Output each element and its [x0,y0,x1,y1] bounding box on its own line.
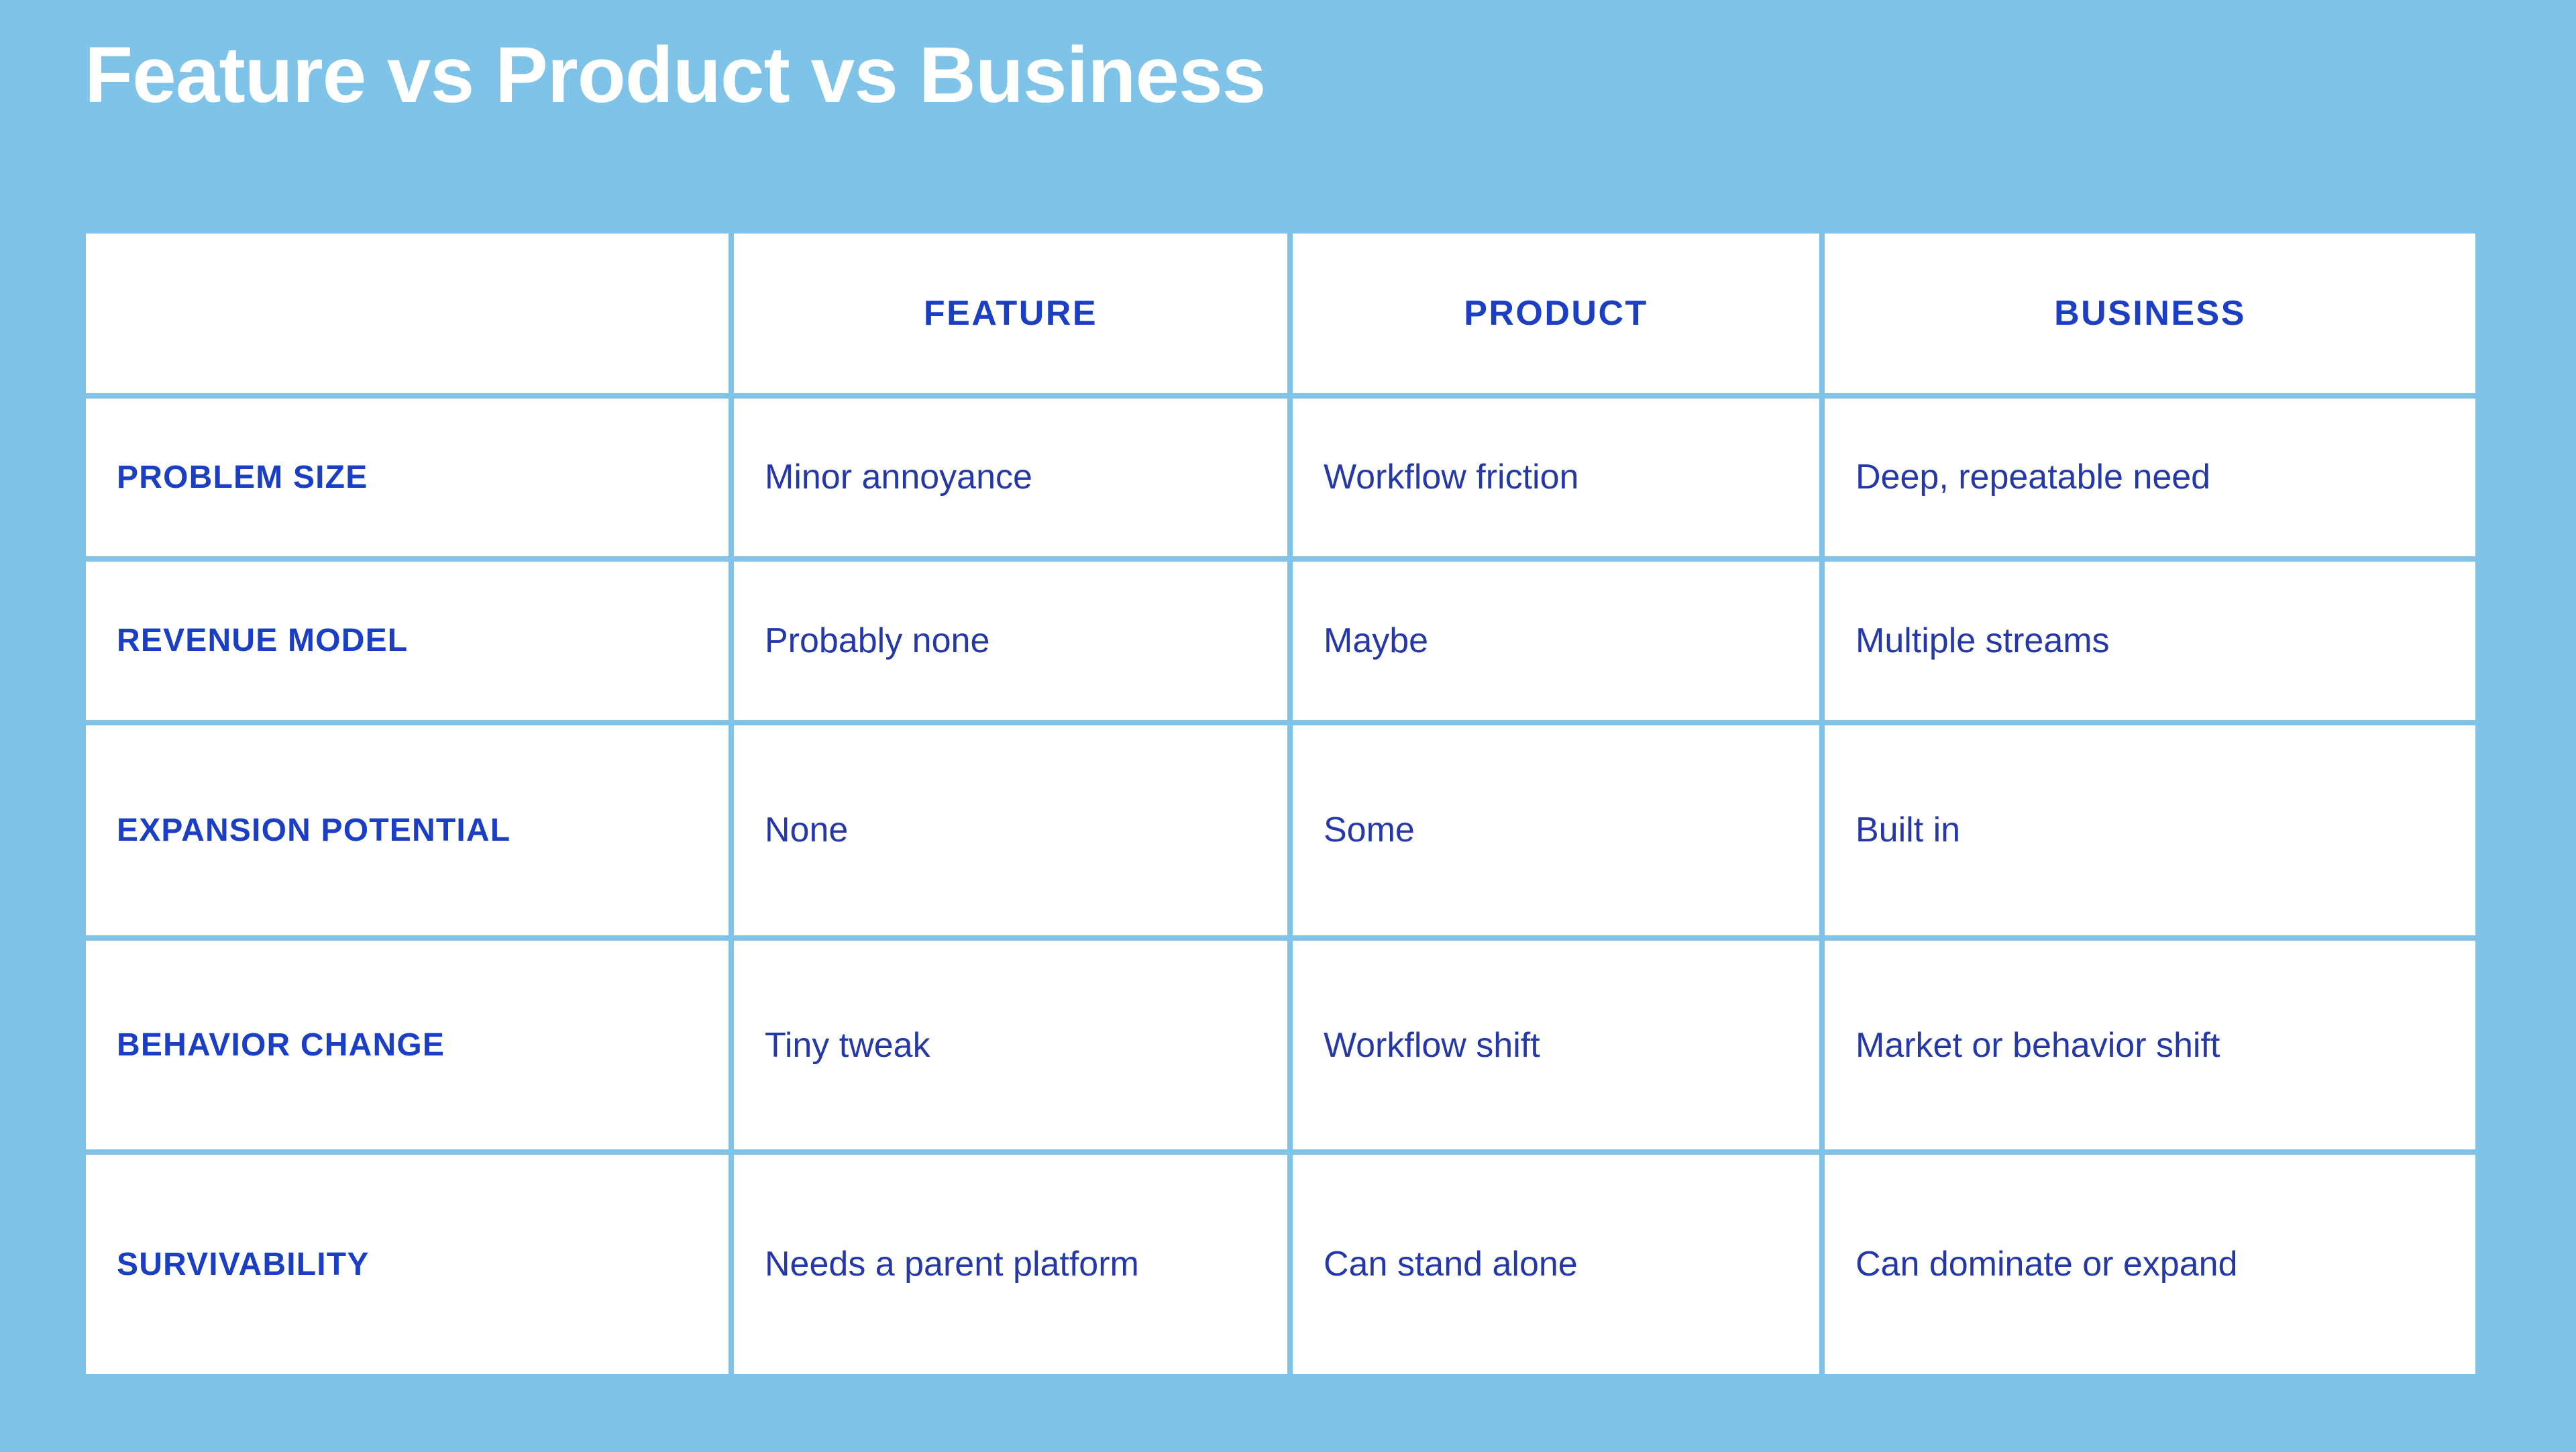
table-row: REVENUE MODEL Probably none Maybe Multip… [86,559,2475,722]
cell-survivability-feature: Needs a parent platform [731,1152,1290,1374]
cell-expansion-potential-business: Built in [1822,723,2475,939]
cell-survivability-product: Can stand alone [1290,1152,1822,1374]
cell-revenue-model-product: Maybe [1290,559,1822,722]
cell-behavior-change-product: Workflow shift [1290,938,1822,1152]
row-label-survivability: SURVIVABILITY [86,1152,731,1374]
cell-expansion-potential-feature: None [731,723,1290,939]
cell-revenue-model-business: Multiple streams [1822,559,2475,722]
page-title: Feature vs Product vs Business [85,31,1265,119]
row-label-revenue-model: REVENUE MODEL [86,559,731,722]
row-label-expansion-potential: EXPANSION POTENTIAL [86,723,731,939]
table-row: BEHAVIOR CHANGE Tiny tweak Workflow shif… [86,938,2475,1152]
comparison-table-container: FEATURE PRODUCT BUSINESS PROBLEM SIZE Mi… [86,234,2475,1374]
row-label-behavior-change: BEHAVIOR CHANGE [86,938,731,1152]
cell-problem-size-product: Workflow friction [1290,396,1822,559]
table-row: EXPANSION POTENTIAL None Some Built in [86,723,2475,939]
column-header-product: PRODUCT [1290,234,1822,396]
cell-revenue-model-feature: Probably none [731,559,1290,722]
cell-expansion-potential-product: Some [1290,723,1822,939]
row-label-problem-size: PROBLEM SIZE [86,396,731,559]
column-header-business: BUSINESS [1822,234,2475,396]
comparison-table: FEATURE PRODUCT BUSINESS PROBLEM SIZE Mi… [86,234,2475,1374]
table-header-row: FEATURE PRODUCT BUSINESS [86,234,2475,396]
column-header-feature: FEATURE [731,234,1290,396]
cell-problem-size-feature: Minor annoyance [731,396,1290,559]
table-row: SURVIVABILITY Needs a parent platform Ca… [86,1152,2475,1374]
cell-behavior-change-business: Market or behavior shift [1822,938,2475,1152]
cell-behavior-change-feature: Tiny tweak [731,938,1290,1152]
cell-problem-size-business: Deep, repeatable need [1822,396,2475,559]
comparison-table-page: Feature vs Product vs Business FEATURE P… [0,0,2576,1452]
cell-survivability-business: Can dominate or expand [1822,1152,2475,1374]
table-row: PROBLEM SIZE Minor annoyance Workflow fr… [86,396,2475,559]
table-corner-cell [86,234,731,396]
